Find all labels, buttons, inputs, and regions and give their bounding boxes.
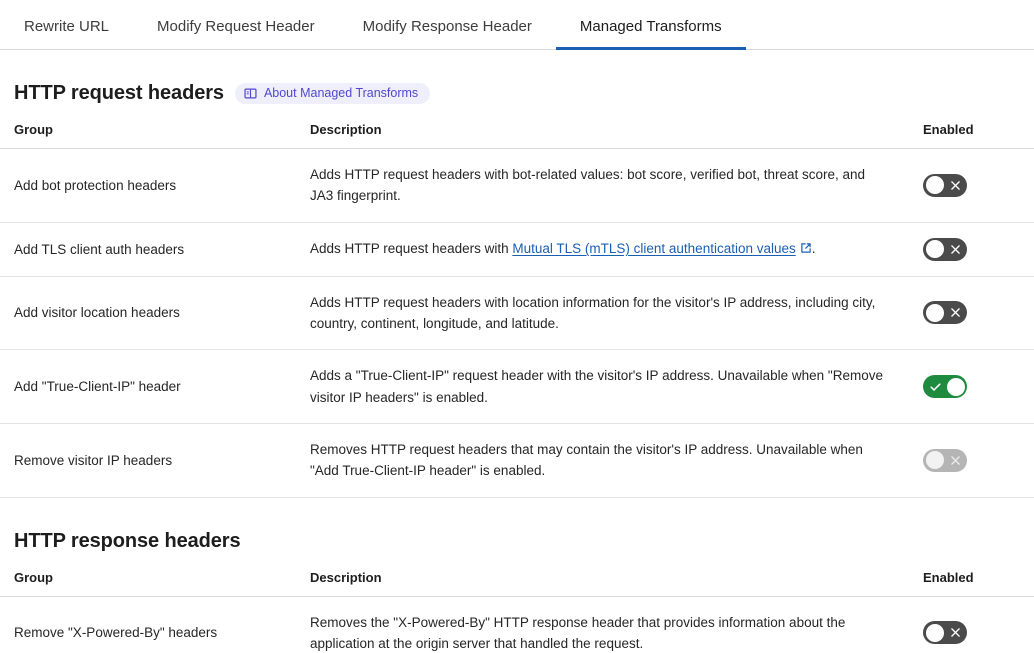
tab-managed-transforms[interactable]: Managed Transforms [580,19,722,49]
column-header-group: Group [0,570,305,597]
table-header-row: Group Description Enabled [0,122,1034,149]
row-description: Adds HTTP request headers with bot-relat… [305,149,910,223]
row-description: Adds HTTP request headers with Mutual TL… [305,222,910,276]
toggle-remove-visitor-ip-headers [923,449,967,472]
tab-rewrite-url[interactable]: Rewrite URL [24,19,109,49]
toggle-knob [926,451,944,469]
table-row: Add "True-Client-IP" header Adds a "True… [0,350,1034,424]
column-header-group: Group [0,122,305,149]
row-group-label: Remove "X-Powered-By" headers [0,596,305,653]
table-row: Add visitor location headers Adds HTTP r… [0,276,1034,350]
toggle-add-visitor-location-headers[interactable] [923,301,967,324]
tab-modify-request-header[interactable]: Modify Request Header [157,19,315,49]
toggle-add-true-client-ip-header[interactable] [923,375,967,398]
toggle-add-tls-client-auth-headers[interactable] [923,238,967,261]
page-title-response: HTTP response headers [14,530,241,553]
row-enabled-cell [910,222,1034,276]
toggle-remove-x-powered-by-headers[interactable] [923,621,967,644]
toggle-add-bot-protection-headers[interactable] [923,174,967,197]
request-headers-table: Group Description Enabled Add bot protec… [0,122,1034,498]
toggle-knob [926,624,944,642]
table-row: Remove "X-Powered-By" headers Removes th… [0,596,1034,653]
toggle-knob [926,176,944,194]
section-header-request: HTTP request headers About Managed Trans… [0,82,1034,105]
toggle-knob [926,240,944,258]
row-enabled-cell [910,149,1034,223]
external-link-icon[interactable] [800,239,812,260]
row-group-label: Add TLS client auth headers [0,222,305,276]
row-group-label: Add visitor location headers [0,276,305,350]
section-header-response: HTTP response headers [0,530,1034,553]
page-title-request: HTTP request headers [14,82,224,105]
close-icon [944,449,966,472]
about-managed-transforms-label: About Managed Transforms [264,87,418,100]
row-description-suffix: . [812,241,816,256]
close-icon [944,174,966,197]
column-header-description: Description [305,122,910,149]
book-icon [244,87,257,100]
row-group-label: Add bot protection headers [0,149,305,223]
row-enabled-cell [910,423,1034,497]
row-description: Removes HTTP request headers that may co… [305,423,910,497]
table-header-row: Group Description Enabled [0,570,1034,597]
tab-bar: Rewrite URL Modify Request Header Modify… [0,0,1034,50]
table-row: Add bot protection headers Adds HTTP req… [0,149,1034,223]
column-header-description: Description [305,570,910,597]
row-description: Adds a "True-Client-IP" request header w… [305,350,910,424]
close-icon [944,301,966,324]
row-enabled-cell [910,276,1034,350]
row-enabled-cell [910,596,1034,653]
row-group-label: Remove visitor IP headers [0,423,305,497]
row-description-prefix: Adds HTTP request headers with [310,241,512,256]
tab-modify-response-header[interactable]: Modify Response Header [363,19,532,49]
row-enabled-cell [910,350,1034,424]
table-row: Add TLS client auth headers Adds HTTP re… [0,222,1034,276]
toggle-knob [926,304,944,322]
mtls-client-authentication-link[interactable]: Mutual TLS (mTLS) client authentication … [512,241,795,256]
toggle-knob [947,378,965,396]
row-description: Removes the "X-Powered-By" HTTP response… [305,596,910,653]
column-header-enabled: Enabled [910,122,1034,149]
row-description: Adds HTTP request headers with location … [305,276,910,350]
table-row: Remove visitor IP headers Removes HTTP r… [0,423,1034,497]
check-icon [924,375,946,398]
section-http-request-headers: HTTP request headers About Managed Trans… [0,82,1034,498]
section-http-response-headers: HTTP response headers Group Description … [0,530,1034,653]
close-icon [944,238,966,261]
response-headers-table: Group Description Enabled Remove "X-Powe… [0,570,1034,653]
about-managed-transforms-badge[interactable]: About Managed Transforms [235,83,430,104]
close-icon [944,621,966,644]
column-header-enabled: Enabled [910,570,1034,597]
page-content: HTTP request headers About Managed Trans… [0,82,1034,653]
row-group-label: Add "True-Client-IP" header [0,350,305,424]
